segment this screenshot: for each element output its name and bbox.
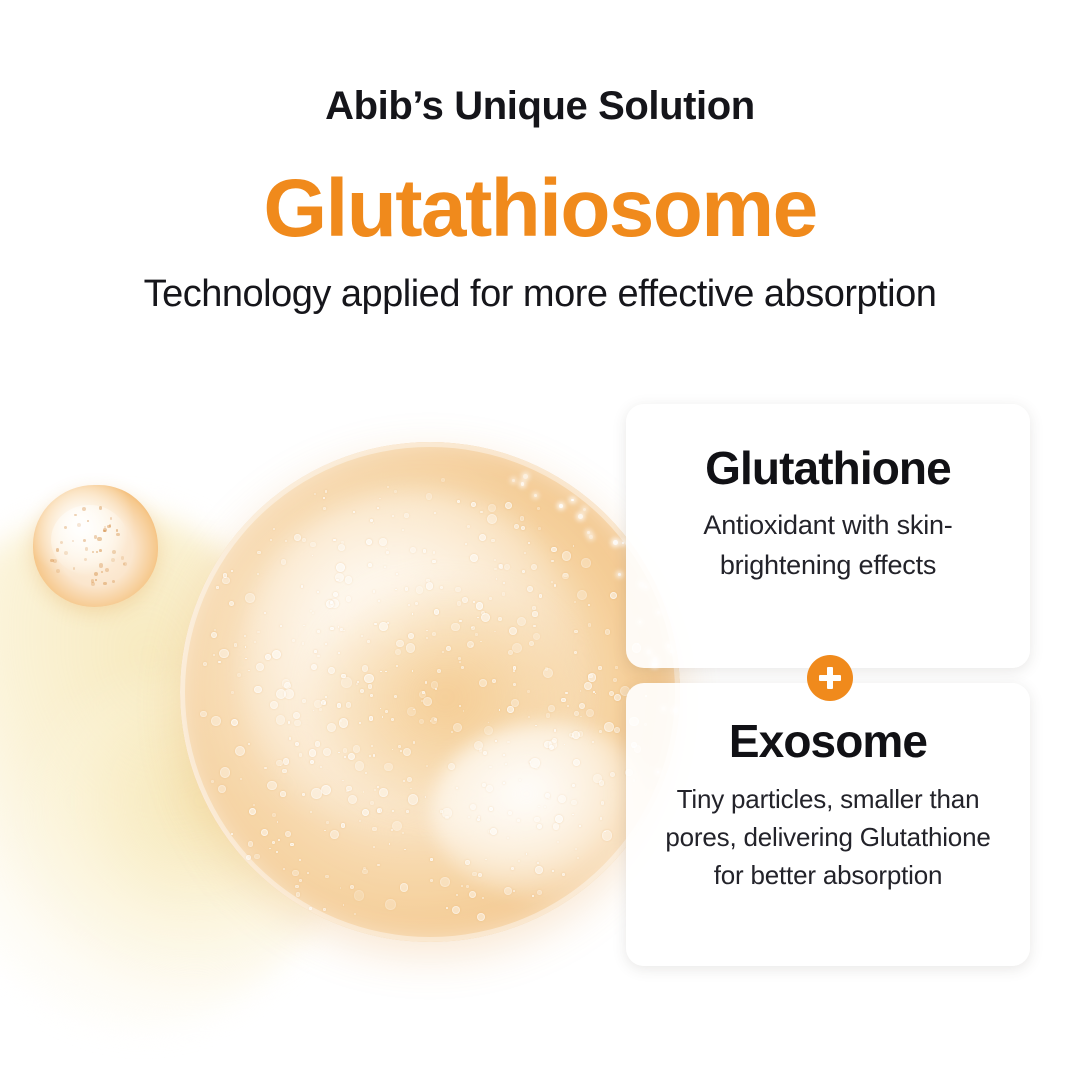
product-photo (0, 380, 720, 1080)
gel-droplet-specks (33, 485, 158, 607)
eyebrow-heading: Abib’s Unique Solution (0, 84, 1080, 129)
gel-sphere (180, 442, 680, 942)
product-infographic: Abib’s Unique Solution Glutathiosome Tec… (0, 0, 1080, 1080)
plus-icon (807, 655, 853, 701)
card-glutathione-title: Glutathione (654, 444, 1002, 492)
card-exosome-body: Tiny particles, smaller than pores, deli… (650, 781, 1006, 895)
card-glutathione-body: Antioxidant with skin-brightening effect… (654, 506, 1002, 585)
page-subtitle: Technology applied for more effective ab… (0, 273, 1080, 316)
card-glutathione: Glutathione Antioxidant with skin-bright… (626, 404, 1030, 668)
card-exosome: Exosome Tiny particles, smaller than por… (626, 683, 1030, 966)
page-title: Glutathiosome (0, 168, 1080, 250)
gel-glass-ring (180, 442, 680, 942)
card-exosome-title: Exosome (650, 717, 1006, 765)
